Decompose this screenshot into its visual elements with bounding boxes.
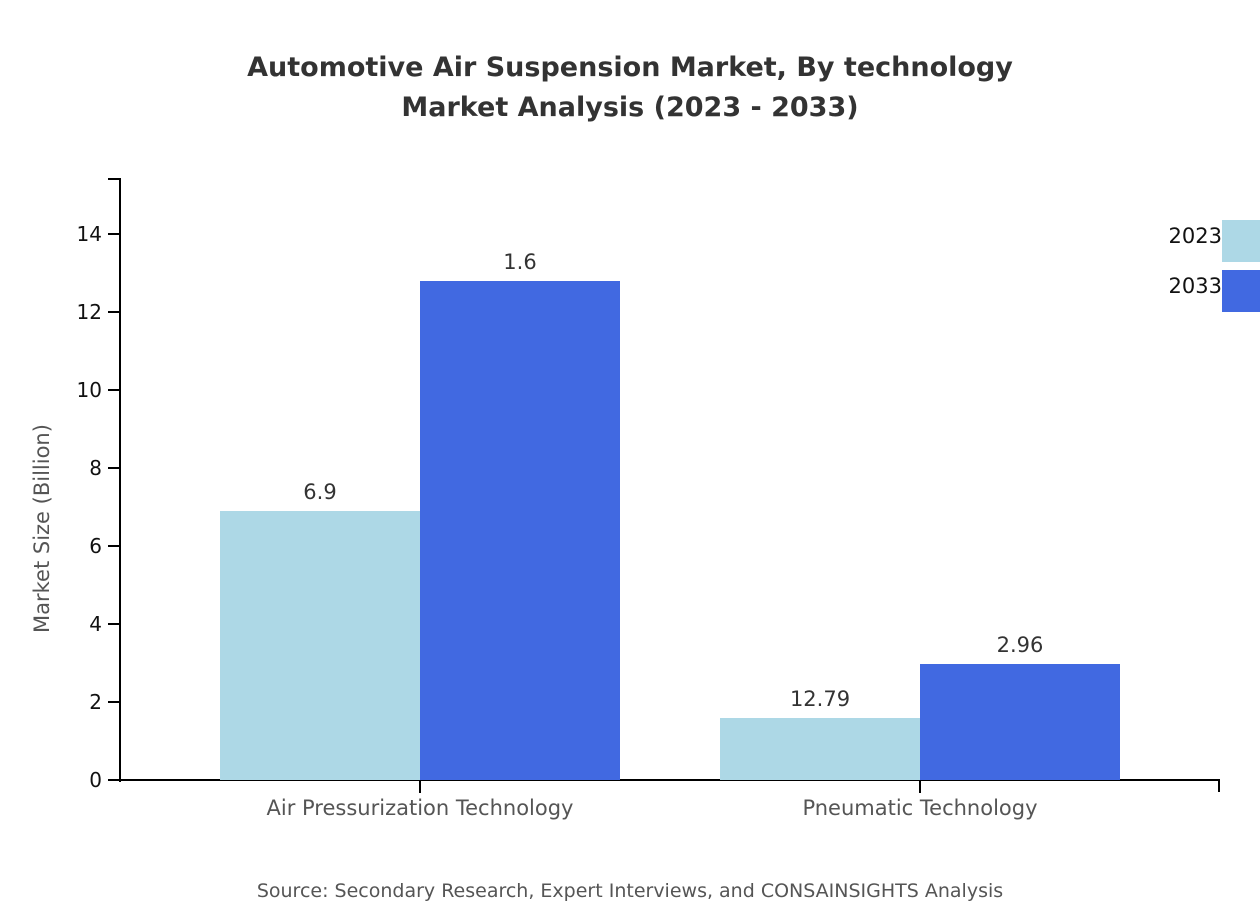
bar-chart-figure: Automotive Air Suspension Market, By tec… [0,0,1260,920]
y-axis-title: Market Size (Billion) [30,424,54,633]
y-axis-top-cap [108,178,121,180]
chart-title-line-1: Automotive Air Suspension Market, By tec… [0,48,1260,88]
legend-item-2023[interactable]: 2023 [1128,220,1260,270]
chart-title: Automotive Air Suspension Market, By tec… [0,48,1260,128]
y-tick-label-4: 4 [89,614,102,634]
bar-2033-2[interactable] [920,664,1120,780]
bar-2033-1[interactable] [420,281,620,780]
y-tick-4 [108,623,121,625]
legend-swatch-2033 [1222,270,1260,312]
x-axis-category-label-1: Air Pressurization Technology [267,794,574,822]
y-tick-label-12: 12 [77,302,102,322]
y-tick-14 [108,233,121,235]
y-tick-label-8: 8 [89,458,102,478]
bar-value-label-2033-1: 1.6 [503,252,536,273]
y-axis-line [119,179,121,782]
y-tick-label-14: 14 [77,224,102,244]
y-tick-12 [108,311,121,313]
legend-label-2023: 2023 [1169,224,1222,248]
chart-title-line-2: Market Analysis (2023 - 2033) [0,88,1260,128]
x-axis-right-cap [1218,780,1220,792]
y-tick-6 [108,545,121,547]
x-axis-category-label-2: Pneumatic Technology [802,794,1037,822]
legend-item-2033[interactable]: 2033 [1128,270,1260,320]
x-tick-2 [919,781,921,793]
y-tick-label-10: 10 [77,380,102,400]
bar-value-label-2033-2: 2.96 [997,635,1044,656]
bar-2023-1[interactable] [220,511,420,780]
y-tick-8 [108,467,121,469]
source-note: Source: Secondary Research, Expert Inter… [0,878,1260,904]
y-tick-2 [108,701,121,703]
y-tick-label-6: 6 [89,536,102,556]
y-tick-10 [108,389,121,391]
y-tick-0 [108,779,121,781]
legend: 2023 2033 [1128,220,1260,320]
legend-label-2033: 2033 [1169,274,1222,298]
y-tick-label-2: 2 [89,692,102,712]
x-tick-1 [419,781,421,793]
y-tick-label-0: 0 [89,770,102,790]
bar-value-label-2023-2: 12.79 [790,689,850,710]
bar-value-label-2023-1: 6.9 [303,482,336,503]
legend-swatch-2023 [1222,220,1260,262]
bar-2023-2[interactable] [720,718,920,780]
